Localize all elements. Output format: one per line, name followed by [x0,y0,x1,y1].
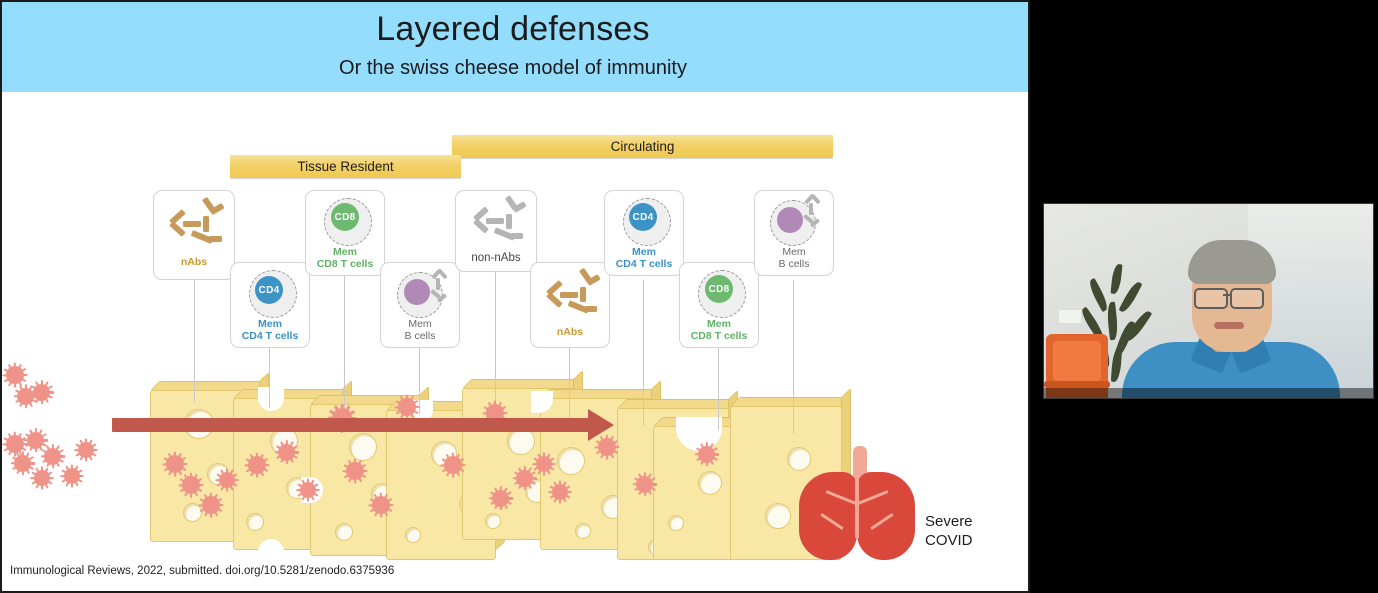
card-label-line1: Mem [605,247,683,259]
page-title: Layered defenses [0,10,1026,49]
virion-icon [202,496,220,514]
virion-icon [27,432,44,449]
connector-line [269,348,270,408]
virion-icon [536,456,552,472]
presentation-slide: Layered defenses Or the swiss cheese mod… [0,0,1030,593]
hair [1188,240,1276,284]
virion-icon [44,448,61,465]
surface-antibody-icon [427,270,447,308]
cd8-t-cell-icon: CD8 [698,270,744,316]
cd4-t-cell-icon: CD4 [249,270,295,316]
connector-line [643,280,644,426]
virion-icon [33,384,50,401]
cheese-slice [653,426,739,560]
outcome-label-line2: COVID [925,531,973,550]
connector-line [194,280,195,402]
virion-icon [166,455,184,473]
card-label-line2: B cells [381,331,459,343]
connector-line [569,348,570,422]
connector-line [419,348,420,414]
virion-icon [636,476,653,493]
citation-text: Immunological Reviews, 2022, submitted. … [10,565,394,577]
virion-icon [14,455,31,472]
mouth [1214,322,1244,329]
card-label-line1: Mem [680,319,758,331]
connector-line [344,276,345,410]
card-non-nabs[interactable]: non-nAbs [455,190,537,272]
virion-icon [698,446,715,463]
card-label-line2: CD8 T cells [306,259,384,271]
card-label-line2: CD4 T cells [231,331,309,343]
swiss-cheese-stack: Severe COVID [0,360,1030,565]
screen: Layered defenses Or the swiss cheese mod… [0,0,1378,593]
light-switch [1058,309,1082,324]
card-nabs-1[interactable]: nAbs [153,190,235,280]
glasses-bridge [1223,294,1232,296]
virion-icon [219,472,235,488]
connector-line [793,280,794,434]
virion-icon [444,456,462,474]
glasses-left-lens [1194,288,1228,309]
glasses-right-lens [1230,288,1264,309]
card-mem-b-2[interactable]: Mem B cells [754,190,834,276]
cd8-marker: CD8 [705,275,733,303]
cd4-marker: CD4 [629,203,657,231]
cd4-t-cell-icon: CD4 [623,198,669,244]
presenter-video-tile[interactable] [1043,203,1374,399]
virion-icon [300,482,316,498]
cd8-marker: CD8 [331,203,359,231]
card-label-line2: B cells [755,259,833,271]
virion-icon [248,456,266,474]
virion-icon [516,470,533,487]
infection-path-arrow [112,418,590,432]
antibody-icon [469,199,527,249]
card-label: nAbs [154,257,234,269]
virion-icon [278,444,295,461]
infection-path-arrowhead [588,409,614,441]
card-mem-b-1[interactable]: Mem B cells [380,262,460,348]
category-banner-tissue-resident-label: Tissue Resident [297,159,393,174]
antibody-icon [542,271,600,321]
card-mem-cd8-2[interactable]: CD8 Mem CD8 T cells [679,262,759,348]
card-mem-cd4-1[interactable]: CD4 Mem CD4 T cells [230,262,310,348]
virion-icon [78,442,94,458]
b-cell-icon [770,197,820,245]
connector-line [718,348,719,430]
category-banner-circulating: Circulating [452,135,833,158]
virion-icon [552,484,568,500]
video-bottom-shadow [1044,388,1373,398]
card-label-line1: Mem [231,319,309,331]
virion-icon [6,366,24,384]
card-label: non-nAbs [456,253,536,265]
category-banner-circulating-label: Circulating [611,139,675,154]
virion-icon [372,496,390,514]
virion-icon [64,468,80,484]
presenter [1130,238,1330,399]
antibody-icon [165,200,225,252]
cd4-marker: CD4 [255,276,283,304]
card-label: nAbs [531,327,609,339]
cd8-t-cell-icon: CD8 [324,198,370,244]
outcome-label: Severe COVID [925,512,973,550]
connector-line [495,272,496,418]
virion-icon [492,490,509,507]
card-mem-cd4-2[interactable]: CD4 Mem CD4 T cells [604,190,684,276]
card-label-line1: Mem [381,319,459,331]
page-subtitle: Or the swiss cheese model of immunity [0,57,1026,80]
virion-icon [346,462,364,480]
card-label-line2: CD8 T cells [680,331,758,343]
card-mem-cd8-1[interactable]: CD8 Mem CD8 T cells [305,190,385,276]
category-banner-tissue-resident: Tissue Resident [230,155,461,178]
virion-icon [182,476,200,494]
virion-icon [34,470,50,486]
card-label-line1: Mem [755,247,833,259]
lungs-icon [795,452,925,562]
surface-antibody-icon [800,195,820,233]
card-nabs-2[interactable]: nAbs [530,262,610,348]
card-label-line1: Mem [306,247,384,259]
virion-icon [398,398,416,416]
card-label-line2: CD4 T cells [605,259,683,271]
outcome-label-line1: Severe [925,512,973,531]
b-cell-icon [397,270,445,318]
